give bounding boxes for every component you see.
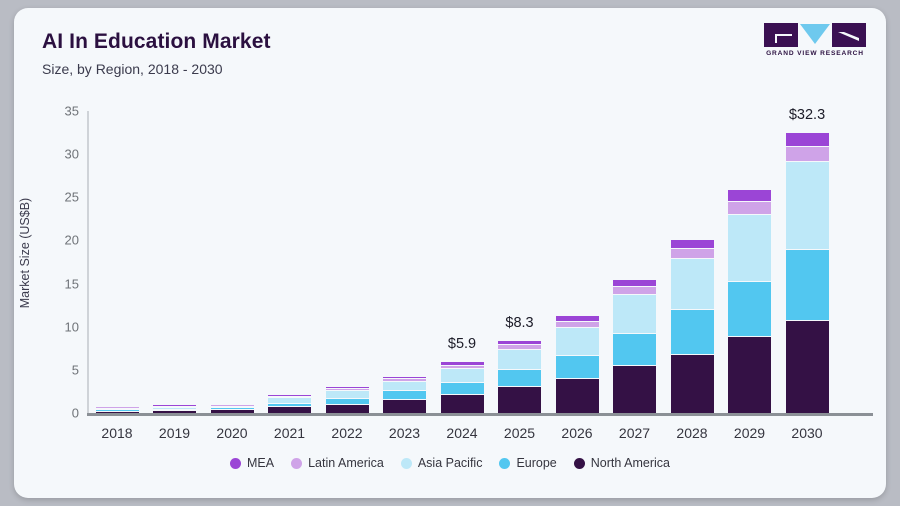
y-tick-10: 10 [39,319,79,334]
segment-north-america-2026[interactable] [556,379,599,413]
segment-asia-pacific-2029[interactable] [728,215,771,282]
segment-mea-2027[interactable] [613,280,656,287]
segment-north-america-2020[interactable] [211,410,254,413]
legend-label: Europe [516,456,556,470]
y-tick-30: 30 [39,147,79,162]
segment-mea-2028[interactable] [671,240,714,249]
chart-card: AI In Education Market Size, by Region, … [14,8,886,498]
segment-asia-pacific-2022[interactable] [326,391,369,399]
gvr-mark-icon [762,22,868,48]
legend-swatch-icon [499,458,510,469]
data-label-2025: $8.3 [480,315,560,331]
bar-2023[interactable] [383,377,426,413]
segment-europe-2028[interactable] [671,310,714,355]
bar-2024[interactable] [441,362,484,413]
segment-north-america-2027[interactable] [613,366,656,413]
bar-2027[interactable] [613,280,656,413]
y-tick-0: 0 [39,406,79,421]
chart-subtitle: Size, by Region, 2018 - 2030 [42,61,223,77]
page-title: AI In Education Market [42,30,271,54]
segment-mea-2029[interactable] [728,190,771,202]
x-axis-line [87,413,873,416]
bar-2021[interactable] [268,395,311,413]
legend-item-mea[interactable]: MEA [230,456,274,470]
segment-latin-america-2026[interactable] [556,322,599,329]
bar-2018[interactable] [96,406,139,414]
segment-asia-pacific-2028[interactable] [671,259,714,311]
y-axis-title: Market Size (US$B) [18,198,32,308]
legend-label: North America [591,456,670,470]
segment-asia-pacific-2023[interactable] [383,382,426,391]
segment-north-america-2028[interactable] [671,355,714,413]
segment-north-america-2029[interactable] [728,337,771,413]
segment-north-america-2023[interactable] [383,400,426,413]
y-tick-5: 5 [39,362,79,377]
segment-europe-2024[interactable] [441,383,484,395]
segment-asia-pacific-2024[interactable] [441,369,484,383]
bar-2030[interactable] [786,133,829,413]
segment-europe-2026[interactable] [556,356,599,379]
legend-swatch-icon [401,458,412,469]
segment-latin-america-2028[interactable] [671,249,714,258]
legend-swatch-icon [574,458,585,469]
grand-view-research-logo: GRAND VIEW RESEARCH [762,22,868,64]
logo-wordmark: GRAND VIEW RESEARCH [762,50,868,57]
segment-north-america-2018[interactable] [96,412,139,414]
segment-europe-2029[interactable] [728,282,771,337]
segment-asia-pacific-2026[interactable] [556,328,599,356]
y-tick-20: 20 [39,233,79,248]
segment-north-america-2019[interactable] [153,411,196,413]
segment-north-america-2021[interactable] [268,407,311,413]
bar-2020[interactable] [211,404,254,413]
segment-north-america-2024[interactable] [441,395,484,413]
segment-north-america-2030[interactable] [786,321,829,413]
y-tick-35: 35 [39,104,79,119]
legend-item-north-america[interactable]: North America [574,456,670,470]
legend-swatch-icon [230,458,241,469]
data-label-2030: $32.3 [767,107,847,123]
data-label-2024: $5.9 [422,336,502,352]
legend-label: Latin America [308,456,384,470]
segment-mea-2030[interactable] [786,133,829,147]
segment-latin-america-2027[interactable] [613,287,656,295]
segment-europe-2025[interactable] [498,370,541,387]
chart-legend: MEALatin AmericaAsia PacificEuropeNorth … [14,456,886,470]
bar-2025[interactable] [498,341,541,413]
segment-latin-america-2029[interactable] [728,202,771,214]
legend-item-asia-pacific[interactable]: Asia Pacific [401,456,483,470]
segment-asia-pacific-2027[interactable] [613,295,656,334]
segment-asia-pacific-2025[interactable] [498,350,541,370]
segment-latin-america-2030[interactable] [786,147,829,162]
bar-2029[interactable] [728,190,771,413]
x-tick-2030: 2030 [772,425,842,441]
y-tick-15: 15 [39,276,79,291]
y-tick-25: 25 [39,190,79,205]
gvr-logo-icon [762,22,868,48]
segment-north-america-2022[interactable] [326,405,369,413]
bar-2022[interactable] [326,387,369,413]
legend-swatch-icon [291,458,302,469]
segment-europe-2023[interactable] [383,391,426,400]
bar-2019[interactable] [153,405,196,413]
segment-north-america-2025[interactable] [498,387,541,413]
segment-europe-2030[interactable] [786,250,829,321]
segment-europe-2027[interactable] [613,334,656,367]
y-axis-line [87,111,89,413]
legend-label: Asia Pacific [418,456,483,470]
legend-item-latin-america[interactable]: Latin America [291,456,384,470]
plot-area: Market Size (US$B) 05101520253035 201820… [87,103,873,421]
legend-label: MEA [247,456,274,470]
bar-2026[interactable] [556,316,599,413]
segment-asia-pacific-2030[interactable] [786,162,829,250]
legend-item-europe[interactable]: Europe [499,456,556,470]
bar-2028[interactable] [671,240,714,413]
